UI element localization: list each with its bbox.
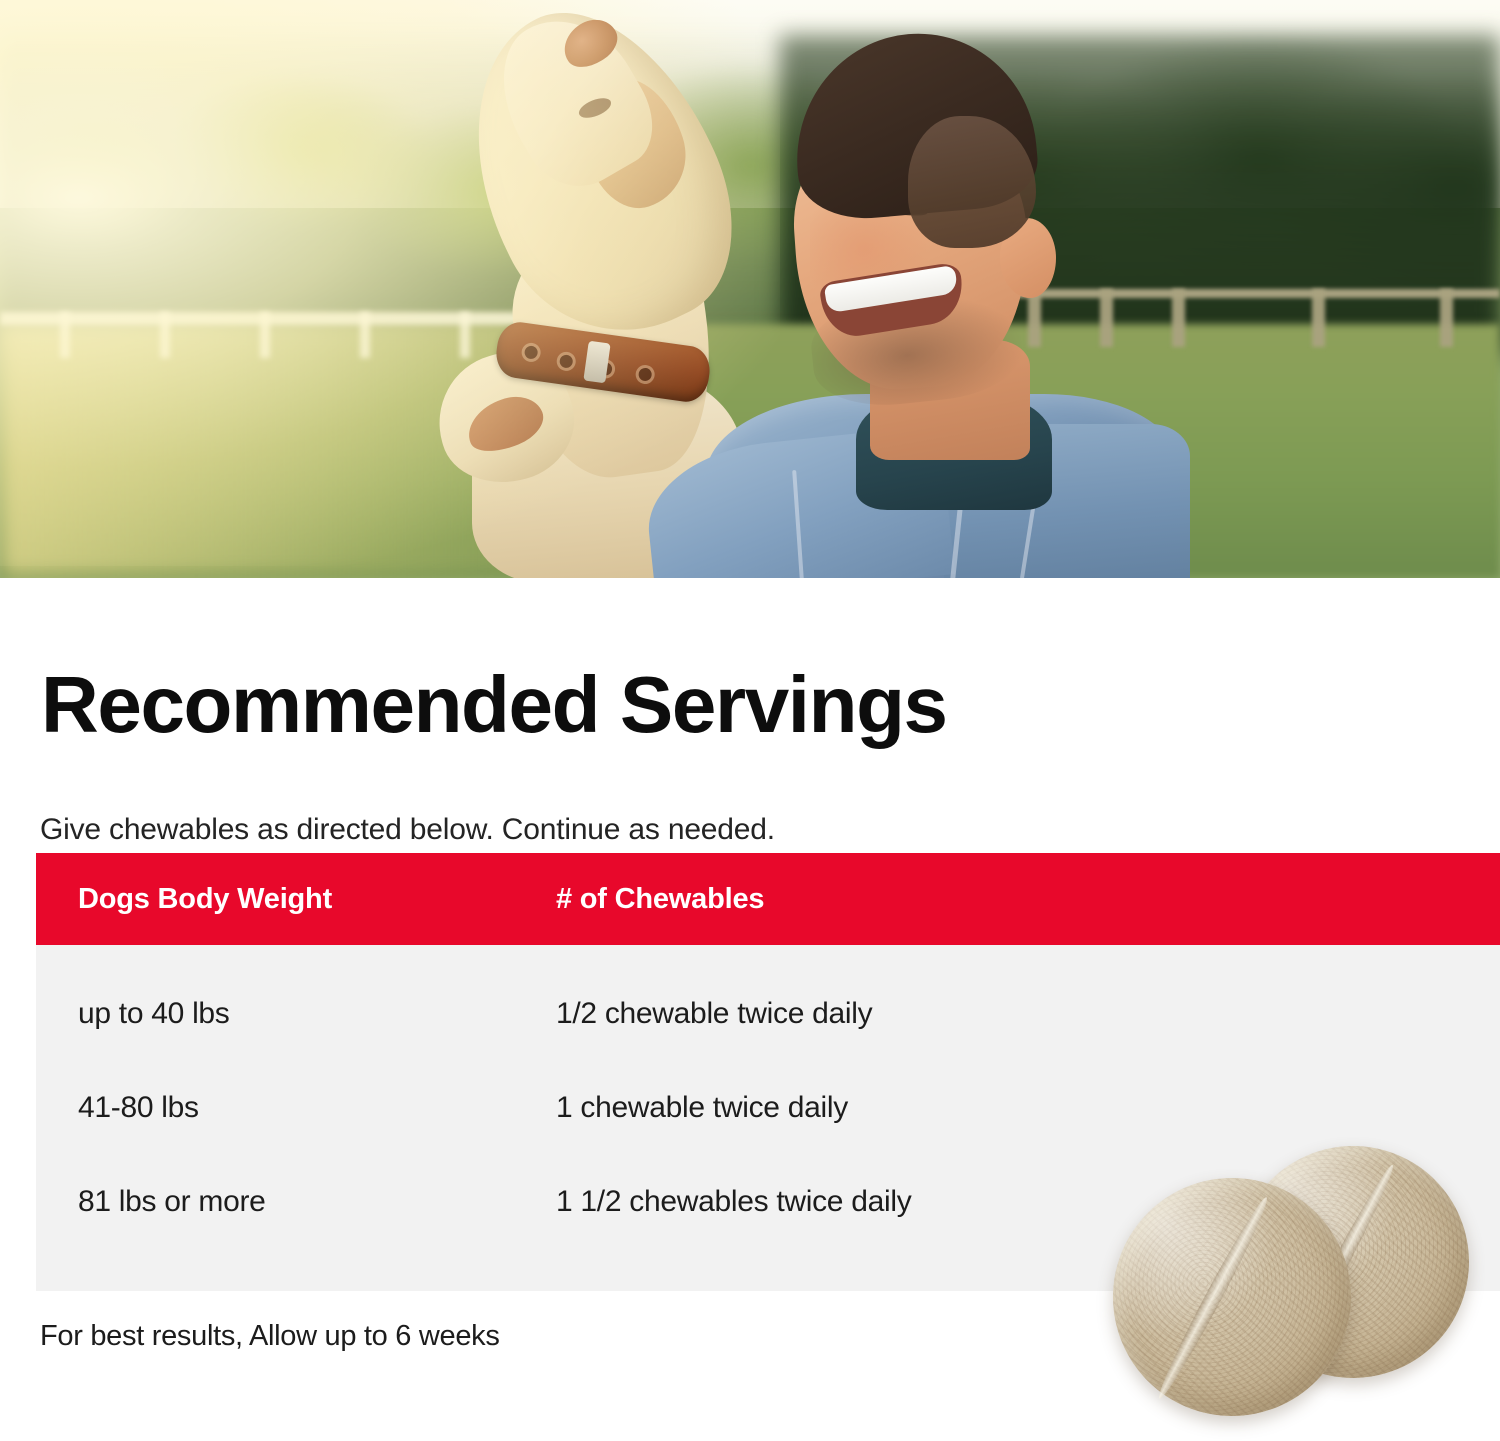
cell-weight: 81 lbs or more [36, 1185, 555, 1219]
white-fence-post [360, 312, 370, 358]
cell-dose: 1 chewable twice daily [555, 1091, 1500, 1125]
table-header-weight: Dogs Body Weight [36, 883, 555, 916]
hero-photo [0, 0, 1500, 578]
white-fence-post [160, 312, 170, 358]
man-figure [700, 20, 1200, 578]
table-header-chewables: # of Chewables [555, 883, 1500, 916]
table-row: up to 40 lbs 1/2 chewable twice daily [36, 967, 1500, 1061]
table-row: 81 lbs or more 1 1/2 chewables twice dai… [36, 1155, 1500, 1249]
white-fence-post [60, 312, 70, 358]
cell-weight: up to 40 lbs [36, 997, 555, 1031]
intro-instruction-text: Give chewables as directed below. Contin… [40, 813, 775, 847]
white-fence-post [260, 312, 270, 358]
wood-fence-post [1312, 289, 1325, 347]
cell-dose: 1/2 chewable twice daily [555, 997, 1500, 1031]
footnote-text: For best results, Allow up to 6 weeks [40, 1320, 500, 1353]
table-row: 41-80 lbs 1 chewable twice daily [36, 1061, 1500, 1155]
cell-dose: 1 1/2 chewables twice daily [555, 1185, 1500, 1219]
content-panel: Recommended Servings Give chewables as d… [0, 578, 1500, 1441]
wood-fence-post [1440, 289, 1453, 347]
dosing-table: Dogs Body Weight # of Chewables up to 40… [36, 853, 1500, 1291]
hero-scene [0, 0, 1500, 578]
table-body: up to 40 lbs 1/2 chewable twice daily 41… [36, 945, 1500, 1291]
page-title: Recommended Servings [41, 665, 947, 745]
cell-weight: 41-80 lbs [36, 1091, 555, 1125]
table-header-row: Dogs Body Weight # of Chewables [36, 853, 1500, 945]
